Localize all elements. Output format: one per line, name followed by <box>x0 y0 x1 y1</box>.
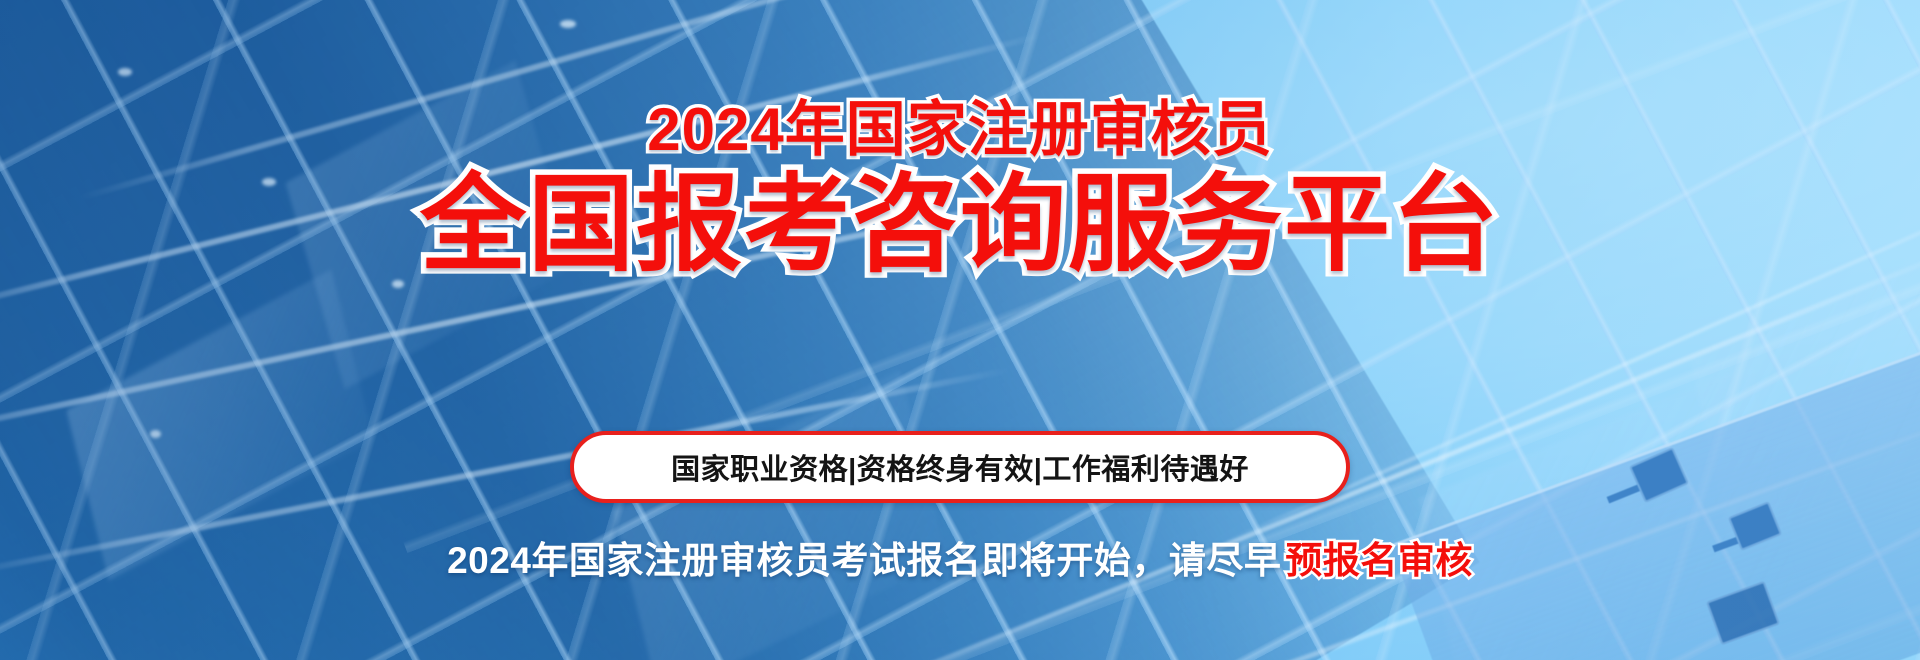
strapline-accent-text: 预报名审核 <box>1285 540 1473 581</box>
strapline: 2024年国家注册审核员考试报名即将开始，请尽早预报名审核 <box>0 530 1920 584</box>
strapline-main-text: 2024年国家注册审核员考试报名即将开始，请尽早 <box>447 540 1281 581</box>
features-pill-label: 国家职业资格|资格终身有效|工作福利待遇好 <box>671 446 1249 488</box>
banner-title: 全国报考咨询服务平台 <box>0 172 1920 278</box>
promo-banner: 2024年国家注册审核员 全国报考咨询服务平台 国家职业资格|资格终身有效|工作… <box>0 0 1920 660</box>
banner-subtitle: 2024年国家注册审核员 <box>0 100 1920 160</box>
banner-content: 2024年国家注册审核员 全国报考咨询服务平台 国家职业资格|资格终身有效|工作… <box>0 0 1920 660</box>
features-pill-badge[interactable]: 国家职业资格|资格终身有效|工作福利待遇好 <box>570 431 1350 503</box>
headline-block: 2024年国家注册审核员 全国报考咨询服务平台 <box>0 100 1920 278</box>
badge-row: 国家职业资格|资格终身有效|工作福利待遇好 <box>0 431 1920 503</box>
